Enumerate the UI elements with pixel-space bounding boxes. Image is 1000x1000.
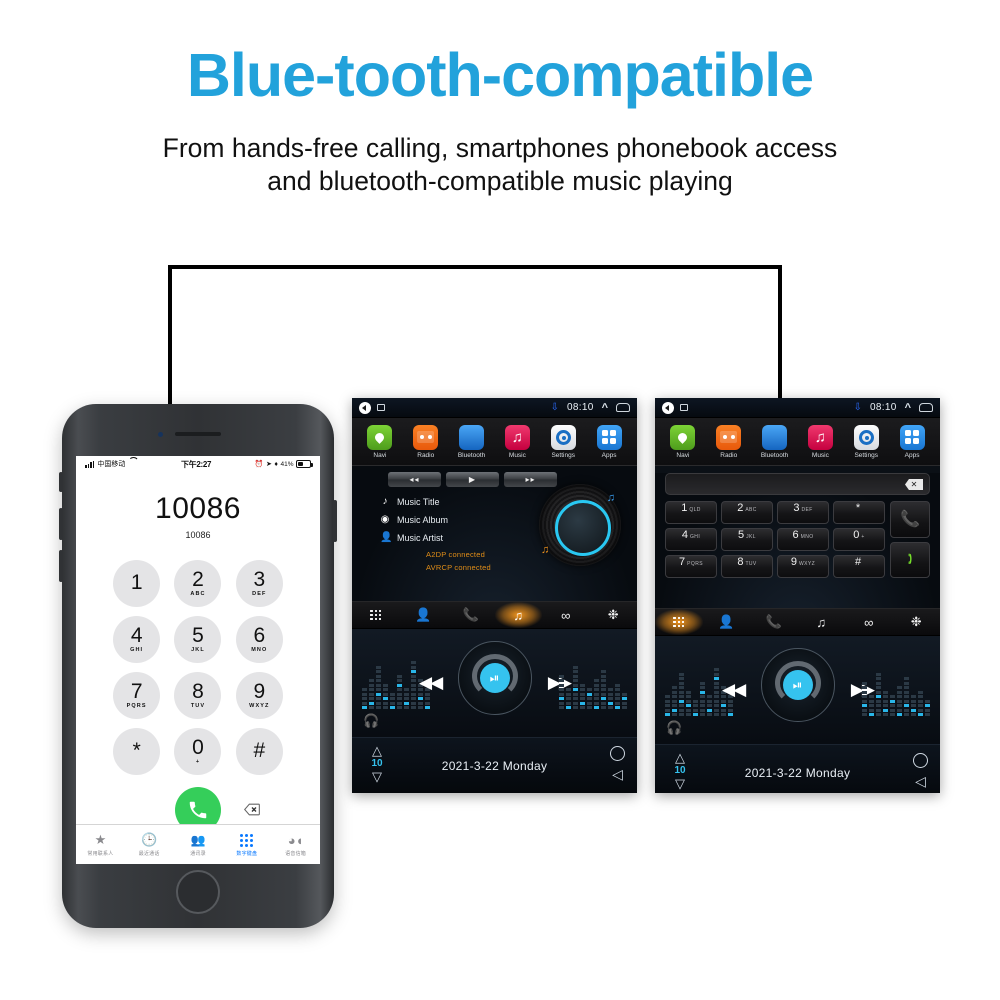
dialer-key[interactable]: 1QLD	[665, 501, 717, 524]
phone-key[interactable]: 3DEF	[236, 560, 283, 607]
function-link[interactable]: ∞	[845, 609, 893, 635]
volume-down-icon[interactable]: ▽	[667, 777, 693, 790]
function-settings[interactable]: ❉	[590, 602, 638, 628]
bluetooth-icon: ⇩	[854, 403, 862, 413]
app-radio[interactable]: Radio	[403, 425, 449, 459]
player-play-pause-button[interactable]: ⏯	[480, 663, 510, 693]
phone-tab-bar[interactable]: ★ 常用联系人 🕒 最近通话 👥 通讯录 数字键盘	[76, 824, 320, 864]
note-icon: ♪	[380, 496, 390, 507]
music-next-button[interactable]: ▸▸	[504, 472, 557, 487]
gear-icon	[551, 425, 576, 450]
screen-icon[interactable]	[377, 404, 385, 411]
phone-mute-switch[interactable]	[59, 472, 63, 492]
app-navi[interactable]: Navi	[660, 425, 706, 459]
location-pin-icon	[670, 425, 695, 450]
bluetooth-icon: ⇩	[551, 403, 559, 413]
function-call-history[interactable]: 📞	[447, 602, 495, 628]
app-bluetooth[interactable]: Bluetooth	[449, 425, 495, 459]
grid-apps-icon	[900, 425, 925, 450]
function-icon-row[interactable]: 👤 📞 ♫ ∞ ❉	[655, 608, 940, 636]
equalizer-right	[862, 654, 930, 716]
phone-volume-up-button[interactable]	[59, 508, 63, 540]
phone-volume-down-button[interactable]	[59, 550, 63, 582]
dialer-key[interactable]: #	[833, 555, 885, 578]
car-icon[interactable]	[919, 403, 933, 412]
back-arrow-icon[interactable]	[662, 402, 674, 414]
app-apps[interactable]: Apps	[889, 425, 935, 459]
grid-apps-icon	[597, 425, 622, 450]
function-keypad[interactable]	[352, 602, 400, 628]
phone-key[interactable]: #	[236, 728, 283, 775]
phone-earpiece-speaker	[175, 432, 221, 436]
bluetooth-app-icon	[459, 425, 484, 450]
volume-control[interactable]: △ 10 ▽	[364, 744, 390, 783]
head-unit-top-bar: ⇩ 08:10 ^	[655, 398, 940, 418]
screen-icon[interactable]	[680, 404, 688, 411]
function-keypad[interactable]	[655, 609, 703, 635]
music-play-button[interactable]: ▶	[446, 472, 499, 487]
music-panel: ◂◂ ▶ ▸▸ ♪ Music Title ◉ Music Album 👤 Mu…	[352, 466, 637, 601]
app-launcher-row[interactable]: Navi Radio Bluetooth ♫ Music Settings Ap…	[655, 418, 940, 466]
chevron-up-icon[interactable]: ^	[905, 403, 911, 413]
dialer-key[interactable]: 8TUV	[721, 555, 773, 578]
volume-up-icon[interactable]: △	[667, 751, 693, 764]
top-bar-right: ⇩ 08:10 ^	[551, 402, 630, 413]
music-note-icon: ♫	[505, 425, 530, 450]
date-display: 2021-3-22 Monday	[352, 759, 637, 773]
dialer-key[interactable]: 7PQRS	[665, 555, 717, 578]
music-artist: Music Artist	[397, 533, 443, 543]
player-play-pause-button[interactable]: ⏯	[783, 670, 813, 700]
top-bar-right: ⇩ 08:10 ^	[854, 402, 933, 413]
phone-keypad[interactable]: 1 2ABC 3DEF 4GHI 5JKL 6MNO 7PQRS 8TUV 9W…	[106, 560, 290, 775]
subtitle-line-1: From hands-free calling, smartphones pho…	[163, 133, 838, 163]
car-icon[interactable]	[616, 403, 630, 412]
phone-key[interactable]: 2ABC	[174, 560, 221, 607]
equalizer-player: ◀◀ ⏯ ▶▶ 🎧	[352, 629, 637, 737]
volume-up-icon[interactable]: △	[364, 744, 390, 757]
head-unit-top-bar: ⇩ 08:10 ^	[352, 398, 637, 418]
contact-label: 10086	[76, 530, 320, 540]
dialer-key[interactable]: 6MNO	[777, 528, 829, 551]
battery-percent: 41%	[280, 461, 293, 468]
clock-icon: 🕒	[141, 832, 157, 848]
star-icon: ★	[95, 832, 107, 848]
alarm-icon: ⏰	[255, 460, 264, 468]
avrcp-status: AVRCP connected	[426, 563, 637, 572]
function-settings[interactable]: ❉	[893, 609, 941, 635]
app-launcher-row[interactable]: Navi Radio Bluetooth ♫ Music Settings Ap…	[352, 418, 637, 466]
volume-control[interactable]: △ 10 ▽	[667, 751, 693, 790]
phone-status-bar: 中国移动 下午2:27 ⏰ ➤ ♦ 41%	[76, 456, 320, 472]
location-icon: ➤	[266, 460, 272, 468]
back-arrow-icon[interactable]	[359, 402, 371, 414]
dialer-call-button[interactable]: 📞	[890, 501, 930, 538]
dialer-number-input[interactable]: ✕	[665, 473, 930, 495]
app-bluetooth[interactable]: Bluetooth	[752, 425, 798, 459]
orange-note-icon: ♫	[541, 544, 549, 556]
equalizer-right	[559, 647, 627, 709]
music-album: Music Album	[397, 515, 448, 525]
player-prev-button[interactable]: ◀◀	[419, 673, 441, 693]
music-prev-button[interactable]: ◂◂	[388, 472, 441, 487]
backspace-icon[interactable]: ✕	[905, 479, 923, 490]
function-link[interactable]: ∞	[542, 602, 590, 628]
dialer-panel: ✕ 1QLD 2ABC 3DEF * 4GHI 5JKL 6MNO 0+ 7PQ…	[655, 473, 940, 608]
page-title: Blue-tooth-compatible	[0, 40, 1000, 110]
player-prev-button[interactable]: ◀◀	[722, 680, 744, 700]
keypad-icon	[240, 832, 253, 848]
head-unit-clock: 08:10	[567, 402, 594, 413]
dialer-pad-area: 1QLD 2ABC 3DEF * 4GHI 5JKL 6MNO 0+ 7PQRS…	[665, 501, 930, 578]
player-hub: ⏯	[458, 641, 532, 715]
function-contacts[interactable]: 👤	[400, 602, 448, 628]
dialer-key[interactable]: 9WXYZ	[777, 555, 829, 578]
vinyl-record-graphic: ♫ ♫	[539, 484, 621, 566]
function-call-history[interactable]: 📞	[750, 609, 798, 635]
head-unit-music-screen: ⇩ 08:10 ^ Navi Radio Bluetooth ♫ Music	[352, 398, 637, 793]
signal-bars-icon	[85, 461, 94, 468]
phone-key[interactable]: 4GHI	[113, 616, 160, 663]
dialer-key[interactable]: 0+	[833, 528, 885, 551]
blue-note-icon: ♫	[607, 492, 615, 504]
top-bar-left	[662, 402, 688, 414]
app-radio[interactable]: Radio	[706, 425, 752, 459]
phone-key[interactable]: 8TUV	[174, 672, 221, 719]
top-bar-left	[359, 402, 385, 414]
dialer-key[interactable]: *	[833, 501, 885, 524]
wifi-icon	[128, 461, 137, 468]
app-settings[interactable]: Settings	[843, 425, 889, 459]
backspace-icon	[244, 803, 260, 816]
back-icon[interactable]: ◁	[915, 774, 926, 788]
music-transport-controls[interactable]: ◂◂ ▶ ▸▸	[352, 466, 637, 487]
headphones-icon: 🎧	[666, 720, 682, 736]
nav-buttons[interactable]: ◁	[913, 753, 928, 788]
music-title: Music Title	[397, 497, 440, 507]
voicemail-icon: ◕◖	[288, 832, 304, 848]
app-settings[interactable]: Settings	[540, 425, 586, 459]
dialer-hangup-button[interactable]: 🕽	[890, 542, 930, 579]
home-icon[interactable]	[610, 746, 625, 761]
battery-icon	[296, 460, 311, 468]
location-pin-icon	[367, 425, 392, 450]
phone-key[interactable]: 7PQRS	[113, 672, 160, 719]
function-contacts[interactable]: 👤	[703, 609, 751, 635]
phone-tab-keypad[interactable]: 数字键盘	[222, 825, 271, 864]
head-unit-clock: 08:10	[870, 402, 897, 413]
phone-tab-voicemail[interactable]: ◕◖ 语音信箱	[271, 825, 320, 864]
app-music[interactable]: ♫ Music	[797, 425, 843, 459]
head-unit-dialer-screen: ⇩ 08:10 ^ Navi Radio Bluetooth ♫ Music	[655, 398, 940, 793]
subtitle-line-2: and bluetooth-compatible music playing	[90, 165, 910, 198]
phone-home-button[interactable]	[176, 870, 220, 914]
back-icon[interactable]: ◁	[612, 767, 623, 781]
home-icon[interactable]	[913, 753, 928, 768]
gear-icon	[854, 425, 879, 450]
bracket-right-line	[778, 265, 782, 417]
chevron-up-icon[interactable]: ^	[602, 403, 608, 413]
phone-tab-recents[interactable]: 🕒 最近通话	[125, 825, 174, 864]
bracket-horizontal-line	[168, 265, 782, 269]
dialer-call-buttons: 📞 🕽	[890, 501, 930, 578]
function-music[interactable]: ♫	[495, 602, 543, 628]
phone-delete-button[interactable]	[244, 803, 260, 817]
dialer-key[interactable]: 3DEF	[777, 501, 829, 524]
player-hub: ⏯	[761, 648, 835, 722]
headphones-icon: 🎧	[363, 713, 379, 729]
phone-power-button[interactable]	[333, 500, 337, 542]
phone-tab-favorites[interactable]: ★ 常用联系人	[76, 825, 125, 864]
carrier-name: 中国移动	[97, 459, 125, 469]
status-right: ⏰ ➤ ♦ 41%	[255, 460, 311, 468]
phone-front-camera	[158, 432, 163, 437]
radio-icon	[716, 425, 741, 450]
date-display: 2021-3-22 Monday	[655, 766, 940, 780]
radio-icon	[413, 425, 438, 450]
equalizer-player: ◀◀ ⏯ ▶▶ 🎧	[655, 636, 940, 744]
phone-key[interactable]: 6MNO	[236, 616, 283, 663]
page-subtitle: From hands-free calling, smartphones pho…	[90, 132, 910, 198]
bluetooth-status-icon: ♦	[274, 461, 278, 468]
app-music[interactable]: ♫ Music	[494, 425, 540, 459]
disc-icon: ◉	[380, 514, 390, 525]
dialed-number: 10086	[76, 492, 320, 526]
function-icon-row[interactable]: 👤 📞 ♫ ∞ ❉	[352, 601, 637, 629]
nav-buttons[interactable]: ◁	[610, 746, 625, 781]
head-unit-bottom-bar: △ 10 ▽ 2021-3-22 Monday ◁	[655, 744, 940, 793]
contacts-icon: 👥	[191, 832, 206, 848]
music-note-icon: ♫	[808, 425, 833, 450]
handset-icon	[187, 799, 209, 821]
dialer-key[interactable]: 5JKL	[721, 528, 773, 551]
smartphone-device: 中国移动 下午2:27 ⏰ ➤ ♦ 41% 10086 10086 1 2ABC…	[62, 404, 334, 928]
phone-key[interactable]: 1	[113, 560, 160, 607]
bluetooth-app-icon	[762, 425, 787, 450]
phone-tab-contacts[interactable]: 👥 通讯录	[174, 825, 223, 864]
status-left: 中国移动	[85, 459, 137, 469]
product-feature-page: Blue-tooth-compatible From hands-free ca…	[0, 0, 1000, 1000]
connector-bracket	[168, 265, 782, 415]
dialer-key[interactable]: 2ABC	[721, 501, 773, 524]
app-apps[interactable]: Apps	[586, 425, 632, 459]
function-music[interactable]: ♫	[798, 609, 846, 635]
dialer-key[interactable]: 4GHI	[665, 528, 717, 551]
person-icon: 👤	[380, 532, 390, 543]
volume-down-icon[interactable]: ▽	[364, 770, 390, 783]
dialer-keypad[interactable]: 1QLD 2ABC 3DEF * 4GHI 5JKL 6MNO 0+ 7PQRS…	[665, 501, 885, 578]
head-unit-bottom-bar: △ 10 ▽ 2021-3-22 Monday ◁	[352, 737, 637, 793]
phone-key[interactable]: *	[113, 728, 160, 775]
phone-key[interactable]: 9WXYZ	[236, 672, 283, 719]
phone-key[interactable]: 5JKL	[174, 616, 221, 663]
phone-key[interactable]: 0+	[174, 728, 221, 775]
bracket-left-line	[168, 265, 172, 405]
phone-screen: 中国移动 下午2:27 ⏰ ➤ ♦ 41% 10086 10086 1 2ABC…	[76, 456, 320, 864]
status-time: 下午2:27	[137, 459, 254, 470]
app-navi[interactable]: Navi	[357, 425, 403, 459]
